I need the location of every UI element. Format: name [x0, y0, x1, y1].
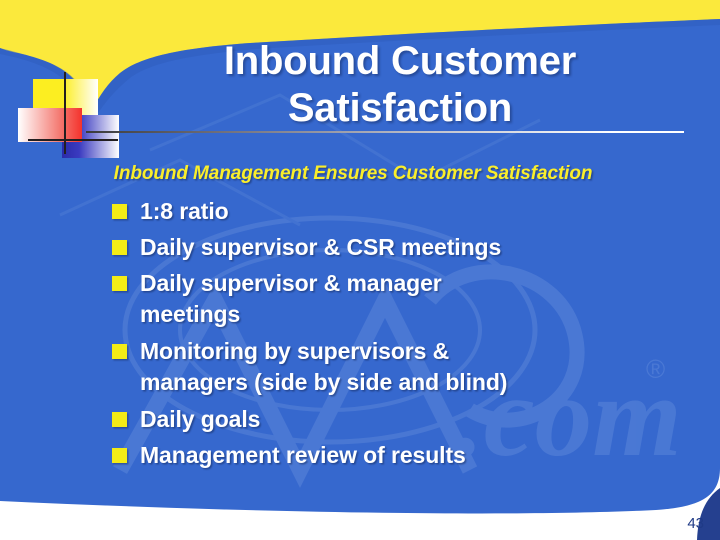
color-blocks-logo — [18, 72, 118, 154]
list-item-label: Daily supervisor & CSR meetings — [140, 232, 702, 263]
list-item-label: Monitoring by supervisors & managers (si… — [140, 336, 702, 398]
list-item: Daily goals — [112, 404, 702, 435]
list-item-label: Daily supervisor & manager meetings — [140, 268, 702, 330]
bullet-square-icon — [112, 412, 127, 427]
bullet-square-icon — [112, 276, 127, 291]
list-item: Daily supervisor & manager meetings — [112, 268, 702, 330]
slide-title: Inbound Customer Satisfaction — [120, 38, 680, 132]
page-number: 43 — [687, 515, 704, 532]
list-item: 1:8 ratio — [112, 196, 702, 227]
bullet-square-icon — [112, 448, 127, 463]
slide-canvas: .com ® Inbound Customer Satisfaction Inb… — [0, 0, 720, 540]
list-item: Daily supervisor & CSR meetings — [112, 232, 702, 263]
list-item: Monitoring by supervisors & managers (si… — [112, 336, 702, 398]
logo-horizontal-line — [28, 139, 118, 141]
logo-vertical-line — [64, 72, 66, 154]
slide-subtitle: Inbound Management Ensures Customer Sati… — [0, 163, 706, 185]
bullet-square-icon — [112, 344, 127, 359]
bullet-square-icon — [112, 204, 127, 219]
bullet-square-icon — [112, 240, 127, 255]
list-item-label: Daily goals — [140, 404, 702, 435]
bullet-list: 1:8 ratio Daily supervisor & CSR meeting… — [112, 196, 702, 476]
list-item-label: Management review of results — [140, 440, 702, 471]
list-item-label: 1:8 ratio — [140, 196, 702, 227]
logo-red-square — [18, 108, 82, 142]
list-item: Management review of results — [112, 440, 702, 471]
